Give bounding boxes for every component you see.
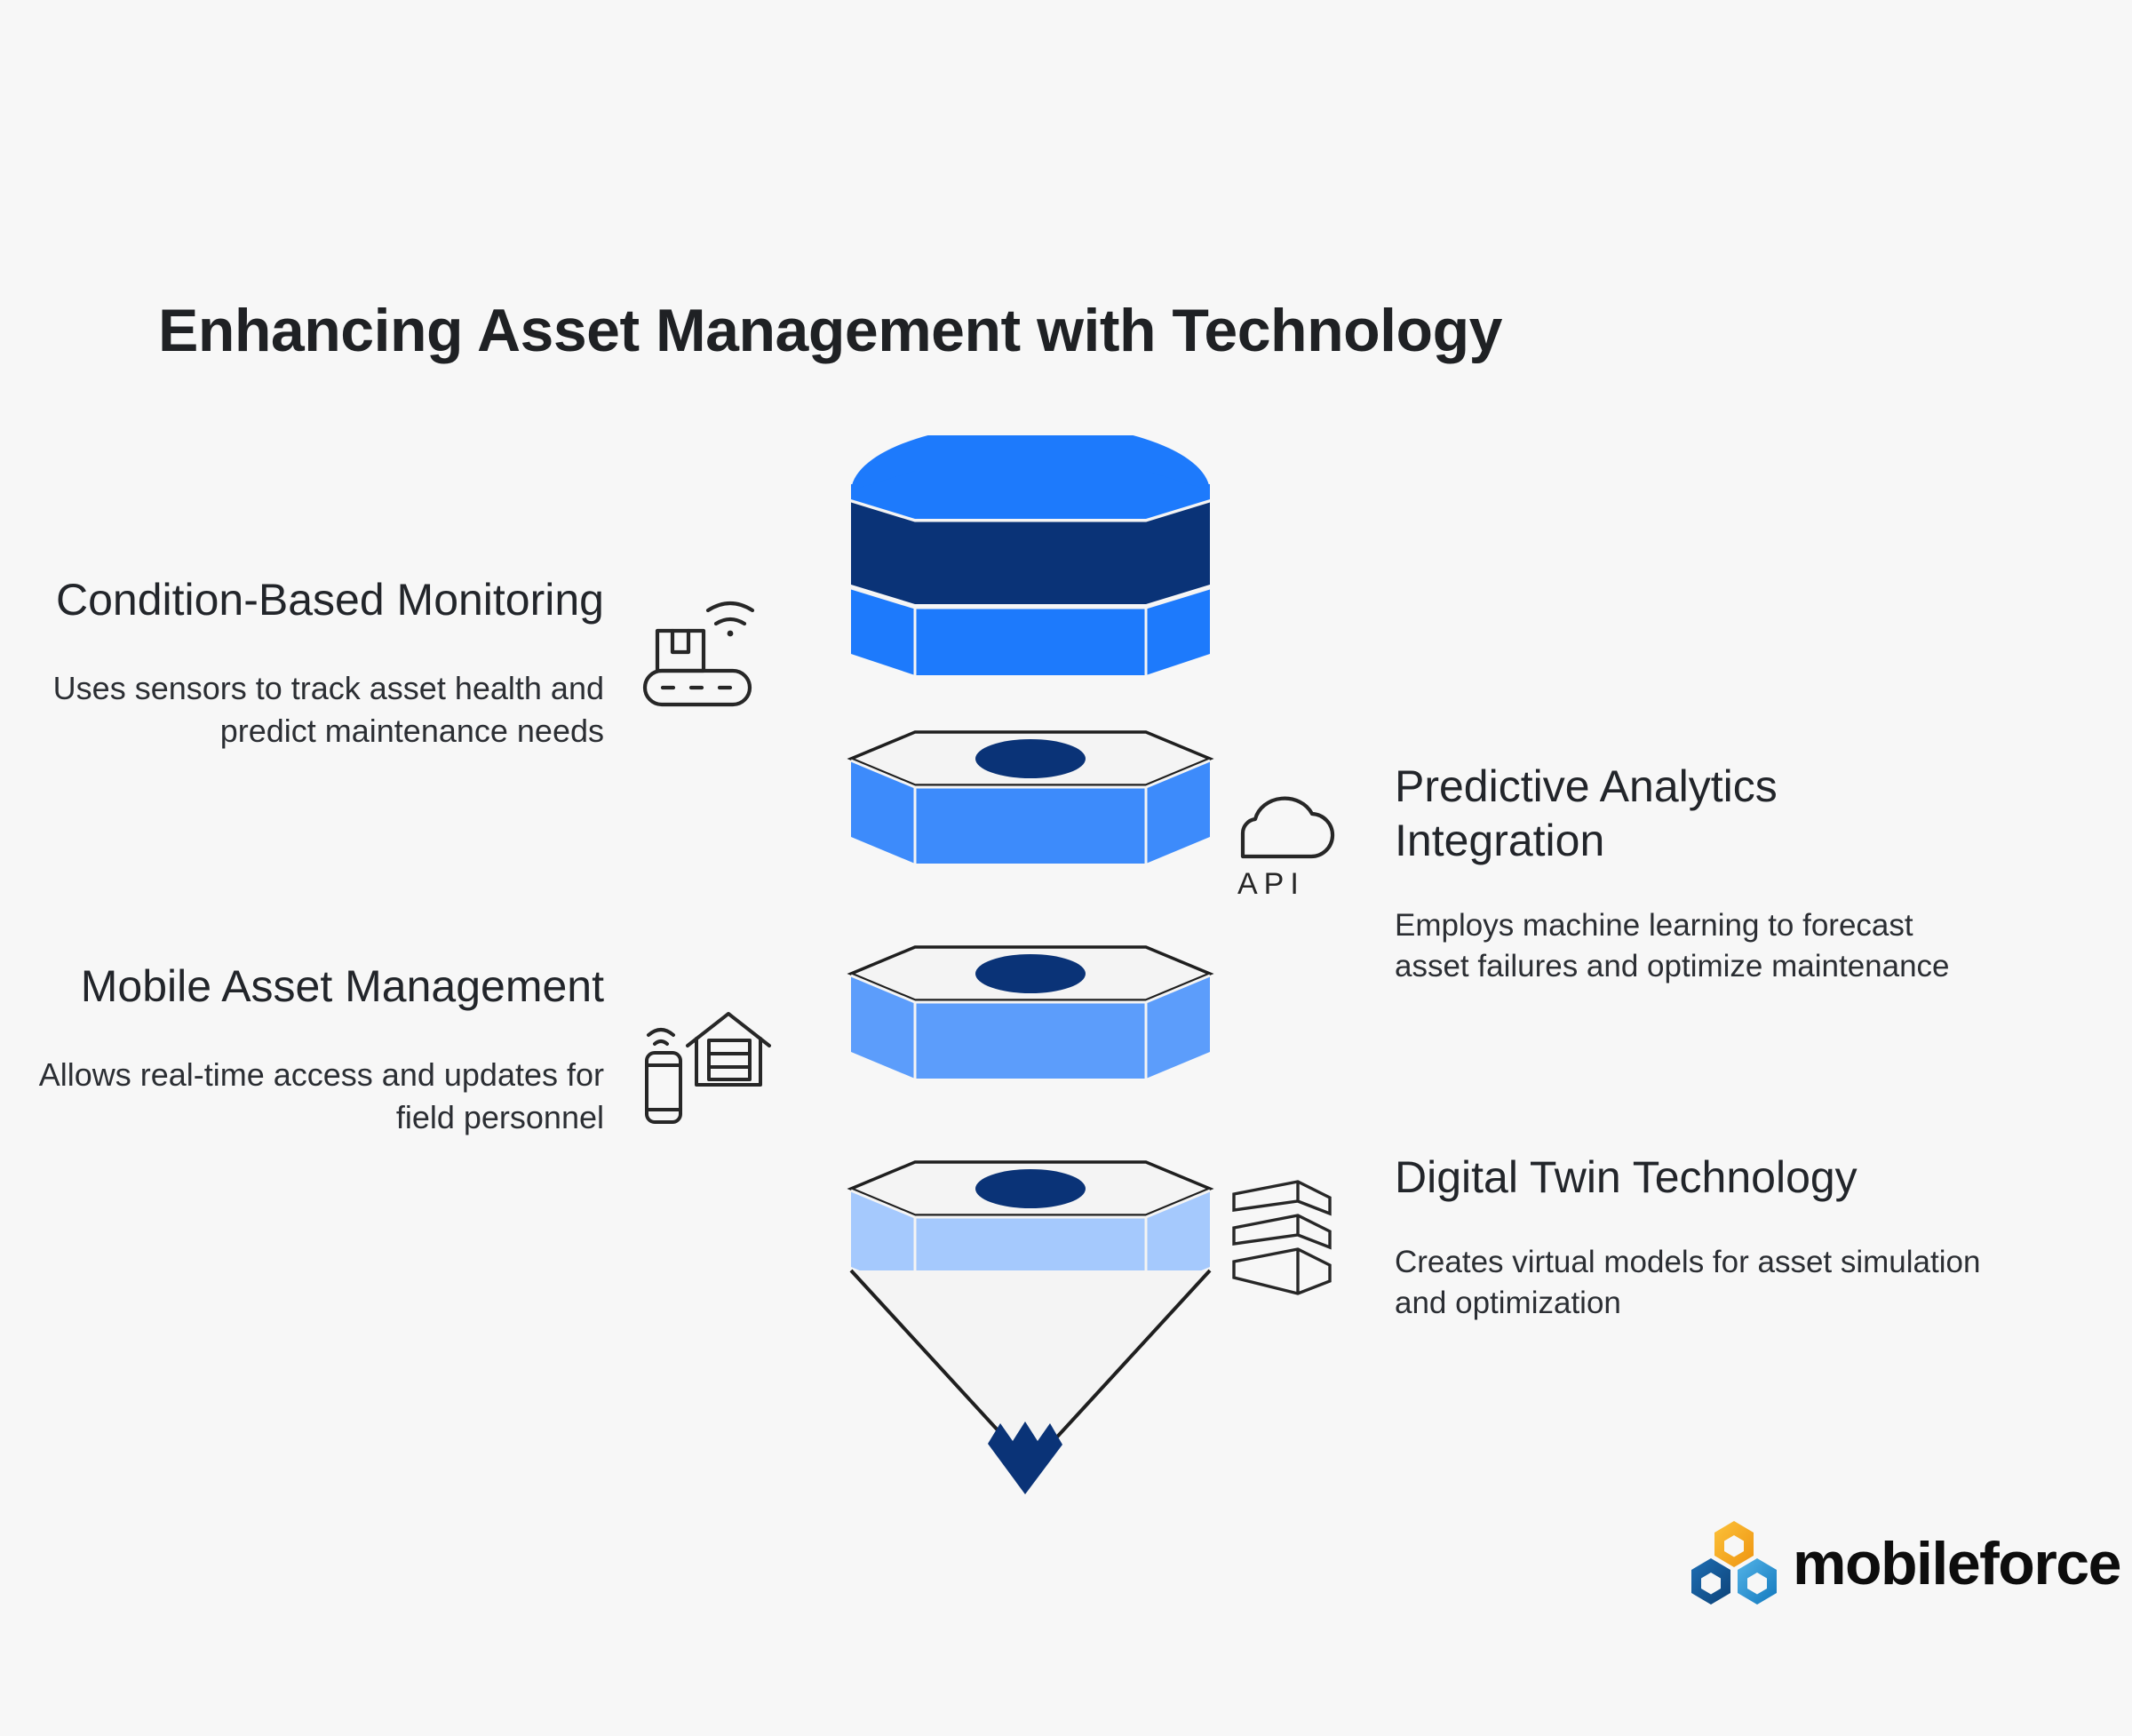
mobileforce-logo[interactable]: mobileforce bbox=[1688, 1519, 2120, 1608]
funnel-hole-4 bbox=[975, 1169, 1086, 1208]
funnel-cone bbox=[851, 1270, 1210, 1494]
item-heading: Condition-Based Monitoring bbox=[36, 573, 604, 627]
mobile-building-icon bbox=[641, 999, 779, 1137]
conveyor-sensor-icon bbox=[641, 591, 779, 729]
layered-funnel-diagram bbox=[835, 435, 1226, 1501]
item-condition-based-monitoring: Condition-Based Monitoring Uses sensors … bbox=[36, 573, 604, 752]
cloud-api-icon: API bbox=[1230, 782, 1364, 915]
funnel-tip-icon bbox=[988, 1421, 1062, 1494]
logo-wordmark: mobileforce bbox=[1793, 1533, 2120, 1594]
funnel-hole-2 bbox=[975, 739, 1086, 778]
item-mobile-asset-management: Mobile Asset Management Allows real-time… bbox=[36, 960, 604, 1138]
item-digital-twin-technology: Digital Twin Technology Creates virtual … bbox=[1395, 1151, 1981, 1324]
stacked-layers-icon bbox=[1230, 1171, 1364, 1304]
item-body: Uses sensors to track asset health and p… bbox=[36, 667, 604, 752]
item-predictive-analytics-integration: Predictive Analytics Integration Employs… bbox=[1395, 760, 1963, 987]
infographic-canvas: Enhancing Asset Management with Technolo… bbox=[0, 0, 2132, 1736]
funnel-layer-2 bbox=[851, 732, 1210, 864]
three-hexagon-icon bbox=[1688, 1519, 1780, 1608]
funnel-layer-1 bbox=[851, 435, 1210, 675]
item-body: Allows real-time access and updates for … bbox=[36, 1054, 604, 1138]
item-heading: Predictive Analytics Integration bbox=[1395, 760, 1963, 868]
api-label: API bbox=[1237, 867, 1305, 901]
funnel-layer-3 bbox=[851, 947, 1210, 1079]
item-heading: Mobile Asset Management bbox=[36, 960, 604, 1014]
page-title: Enhancing Asset Management with Technolo… bbox=[158, 298, 1935, 364]
funnel-hole-3 bbox=[975, 954, 1086, 993]
item-body: Creates virtual models for asset simulat… bbox=[1395, 1242, 1981, 1324]
item-body: Employs machine learning to forecast ass… bbox=[1395, 905, 1963, 987]
item-heading: Digital Twin Technology bbox=[1395, 1151, 1981, 1205]
